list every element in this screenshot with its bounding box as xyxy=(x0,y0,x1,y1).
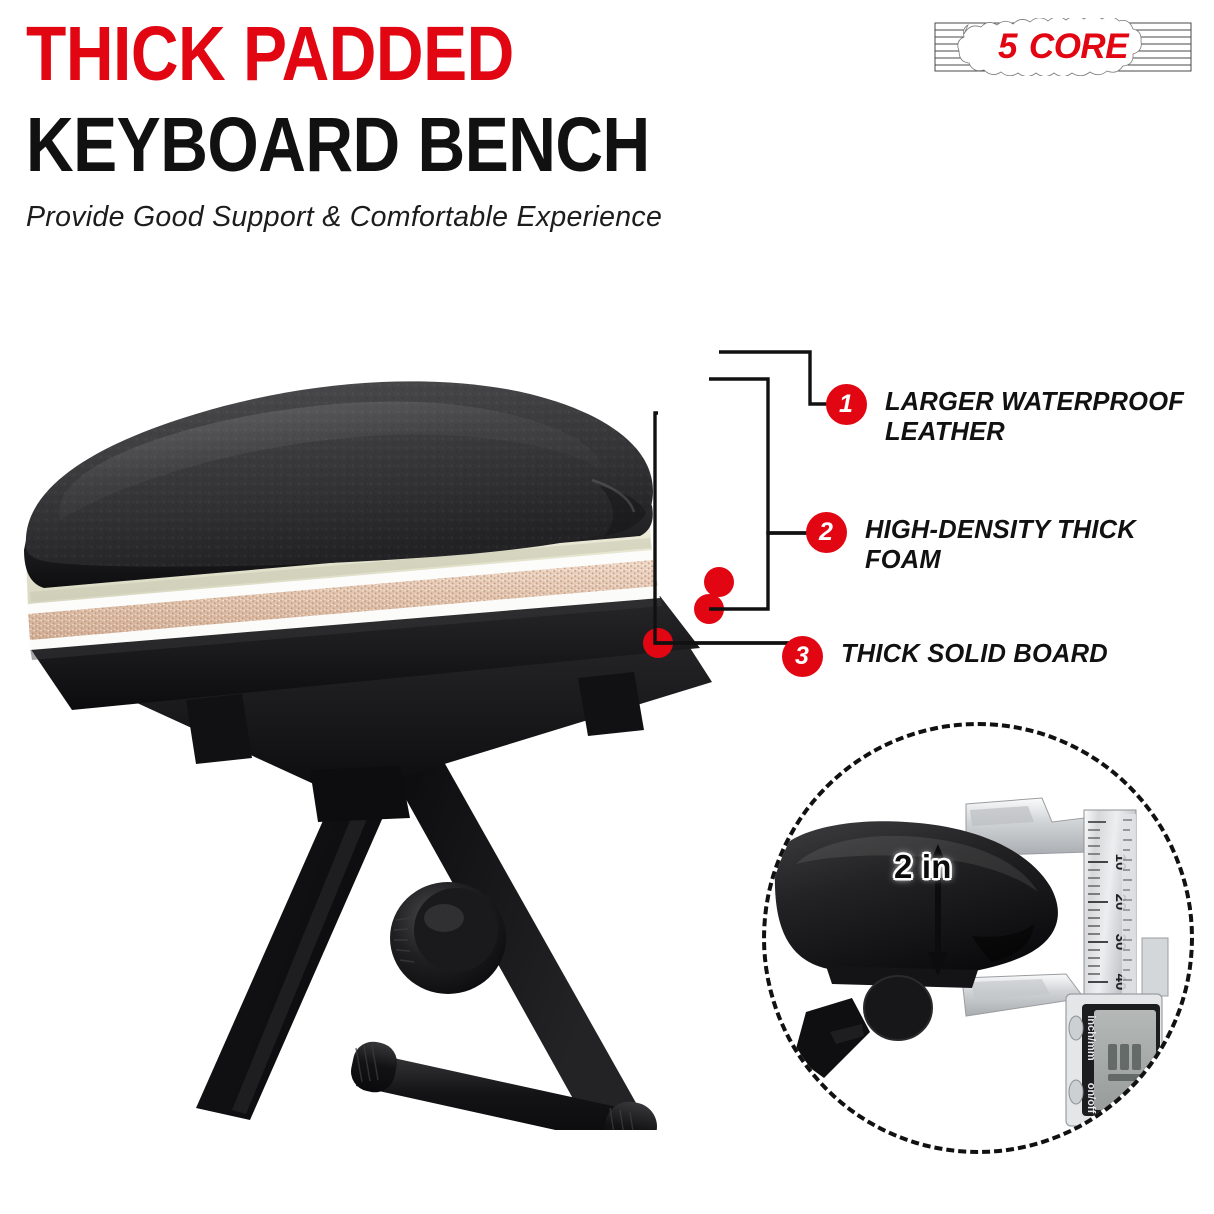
page-title-line2: KEYBOARD BENCH xyxy=(26,107,986,182)
marker-dot-3 xyxy=(643,628,673,658)
callout-badge-3: 3 xyxy=(782,636,823,677)
inset-dashed-ring xyxy=(762,722,1194,1154)
callout-1: 1 LARGER WATERPROOF LEATHER xyxy=(826,384,1184,447)
callout-2: 2 HIGH-DENSITY THICK FOAM xyxy=(806,512,1136,575)
brand-logo: 5 CORE xyxy=(934,18,1192,76)
height-adjustment-knob xyxy=(390,882,506,994)
marker-dot-1 xyxy=(704,567,734,597)
dimension-label: 2 in xyxy=(894,848,952,886)
infographic-canvas: THICK PADDED KEYBOARD BENCH Provide Good… xyxy=(0,0,1214,1214)
callout-badge-2: 2 xyxy=(806,512,847,553)
logo-wordmark: 5 CORE xyxy=(934,18,1192,76)
callout-label-1: LARGER WATERPROOF LEATHER xyxy=(885,384,1184,447)
callout-badge-1: 1 xyxy=(826,384,867,425)
callout-label-2: HIGH-DENSITY THICK FOAM xyxy=(865,512,1136,575)
detail-inset: 10 20 30 40 xyxy=(762,722,1194,1154)
header-block: THICK PADDED KEYBOARD BENCH Provide Good… xyxy=(26,16,986,234)
callout-label-3: THICK SOLID BOARD xyxy=(841,636,1108,669)
logo-number: 5 xyxy=(998,27,1018,67)
logo-word: CORE xyxy=(1029,27,1128,67)
page-title-line1: THICK PADDED xyxy=(26,16,986,91)
callout-3: 3 THICK SOLID BOARD xyxy=(782,636,1108,677)
marker-dot-2 xyxy=(694,594,724,624)
keyboard-bench-illustration xyxy=(0,230,760,1130)
